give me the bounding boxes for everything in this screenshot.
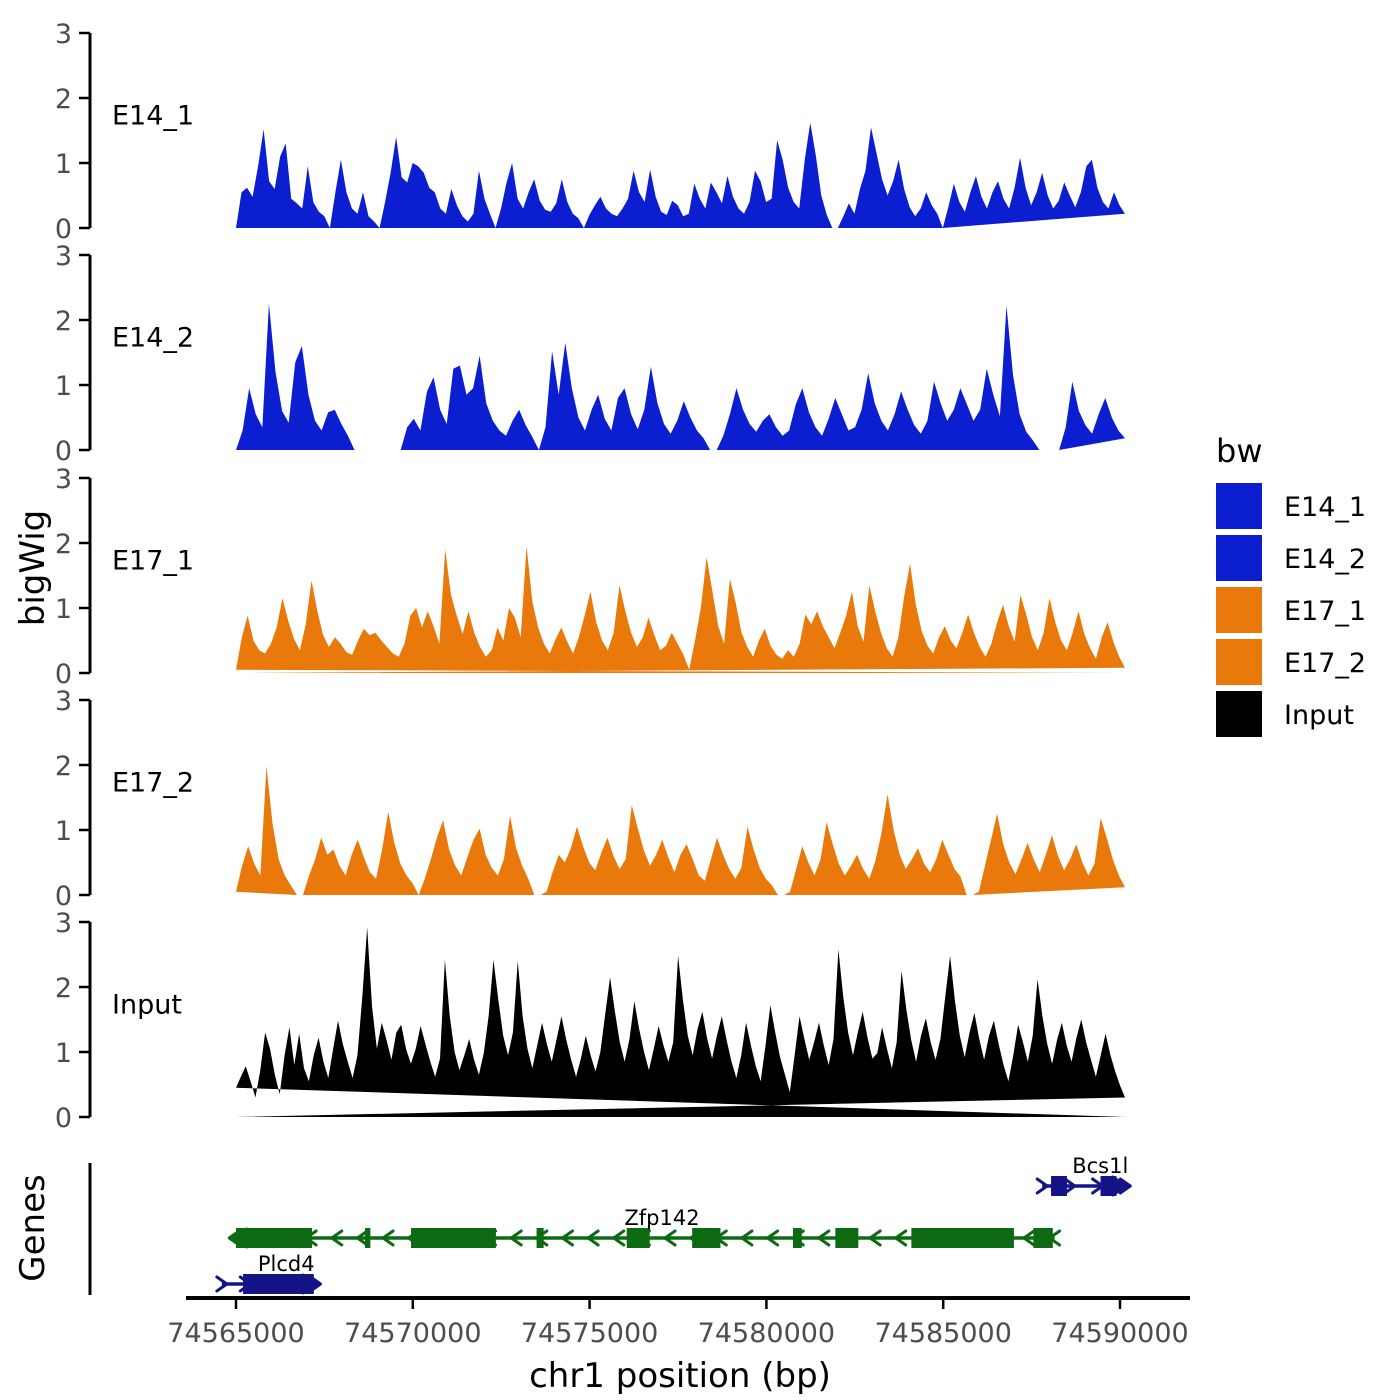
y-tick-label-E17_2-1: 1	[55, 816, 72, 847]
y-tick-label-E14_1-2: 2	[55, 84, 72, 115]
y-tick-label-E17_2-3: 3	[55, 686, 72, 717]
figure-root: 0123E14_10123E14_20123E17_10123E17_20123…	[0, 0, 1400, 1400]
gene-exon-zfp142-5	[692, 1228, 720, 1248]
legend-title: bw	[1216, 432, 1262, 470]
legend-label-input: Input	[1284, 700, 1354, 731]
x-tick-label-74575000: 74575000	[521, 1318, 658, 1349]
gene-exon-zfp142-4	[627, 1228, 650, 1248]
y-axis-title: bigWig	[13, 510, 53, 627]
y-tick-label-E14_2-1: 1	[55, 371, 72, 402]
y-tick-label-E14_1-3: 3	[55, 19, 72, 50]
genes-axis-title: Genes	[13, 1174, 53, 1281]
gene-exon-zfp142-2	[411, 1228, 496, 1248]
legend-swatch-e17_2	[1216, 639, 1262, 685]
gene-label-zfp142: Zfp142	[624, 1206, 699, 1230]
legend-label-e14_2: E14_2	[1284, 544, 1366, 575]
genome-browser-figure: 0123E14_10123E14_20123E17_10123E17_20123…	[0, 0, 1400, 1400]
gene-exon-zfp142-3	[537, 1228, 544, 1248]
y-tick-label-E17_1-3: 3	[55, 464, 72, 495]
gene-exon-bcs1l-0	[1051, 1176, 1067, 1196]
x-tick-label-74590000: 74590000	[1051, 1318, 1188, 1349]
y-tick-label-E17_1-2: 2	[55, 529, 72, 560]
x-tick-label-74585000: 74585000	[874, 1318, 1011, 1349]
gene-exon-zfp142-6	[793, 1228, 802, 1248]
legend-label-e17_2: E17_2	[1284, 648, 1366, 679]
gene-label-bcs1l: Bcs1l	[1072, 1154, 1128, 1178]
x-tick-label-74565000: 74565000	[167, 1318, 304, 1349]
y-tick-label-Input-1: 1	[55, 1038, 72, 1069]
gene-exon-zfp142-9	[1033, 1228, 1052, 1248]
gene-exon-zfp142-7	[835, 1228, 858, 1248]
y-tick-label-E14_2-3: 3	[55, 241, 72, 272]
legend-label-e17_1: E17_1	[1284, 596, 1366, 627]
y-tick-label-Input-0: 0	[55, 1103, 72, 1134]
x-tick-label-74580000: 74580000	[698, 1318, 835, 1349]
legend-swatch-input	[1216, 691, 1262, 737]
x-axis-title: chr1 position (bp)	[529, 1356, 831, 1396]
track-label-e14_1: E14_1	[112, 101, 194, 132]
y-tick-label-E17_1-1: 1	[55, 594, 72, 625]
gene-exon-zfp142-0	[236, 1228, 312, 1248]
legend-label-e14_1: E14_1	[1284, 492, 1366, 523]
track-label-e17_1: E17_1	[112, 546, 194, 577]
legend-swatch-e14_2	[1216, 535, 1262, 581]
y-tick-label-Input-3: 3	[55, 908, 72, 939]
legend-swatch-e14_1	[1216, 483, 1262, 529]
y-tick-label-E14_2-2: 2	[55, 306, 72, 337]
track-label-input: Input	[112, 990, 182, 1021]
y-tick-label-E14_2-0: 0	[55, 436, 72, 467]
gene-label-plcd4: Plcd4	[258, 1252, 315, 1276]
x-tick-label-74570000: 74570000	[344, 1318, 481, 1349]
y-tick-label-E17_2-2: 2	[55, 751, 72, 782]
gene-exon-zfp142-8	[911, 1228, 1014, 1248]
track-label-e14_2: E14_2	[112, 323, 194, 354]
legend-swatch-e17_1	[1216, 587, 1262, 633]
y-tick-label-E14_1-1: 1	[55, 149, 72, 180]
track-label-e17_2: E17_2	[112, 768, 194, 799]
y-tick-label-Input-2: 2	[55, 973, 72, 1004]
gene-exon-zfp142-1	[365, 1228, 370, 1248]
